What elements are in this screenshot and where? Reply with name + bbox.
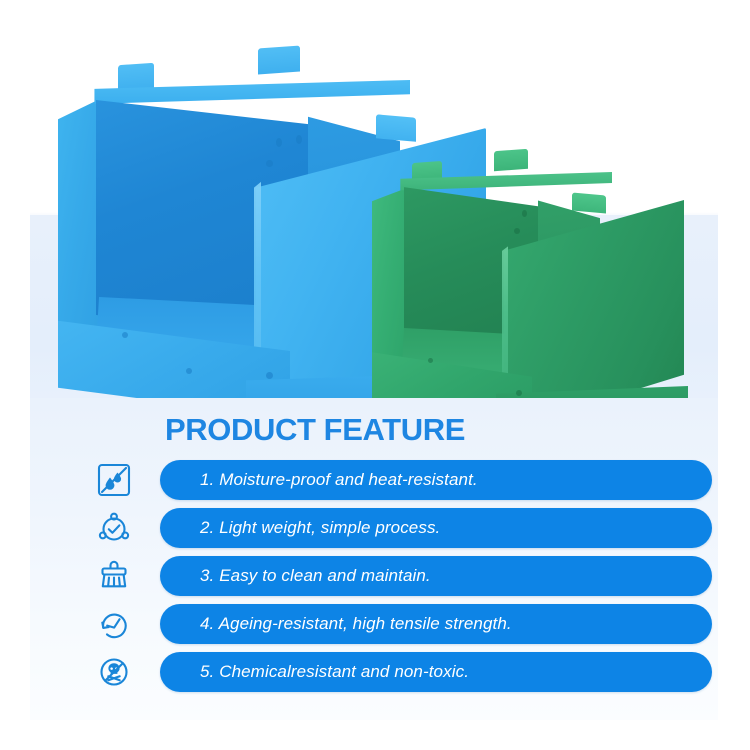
feature-text: 3. Easy to clean and maintain. [200, 566, 431, 586]
ageing-clock-icon [92, 604, 136, 644]
blue-crate-rivet [266, 160, 273, 167]
feature-pill[interactable]: 2. Light weight, simple process. [160, 508, 712, 548]
feature-pill[interactable]: 4. Ageing-resistant, high tensile streng… [160, 604, 712, 644]
feature-text: 5. Chemicalresistant and non-toxic. [200, 662, 469, 682]
blue-crate-rivet [296, 135, 302, 144]
moisture-proof-icon [92, 460, 136, 500]
blue-crate-rivet [122, 332, 128, 338]
cleaning-brush-icon [92, 556, 136, 596]
green-crate-rivet [428, 358, 433, 363]
list-item[interactable]: 5. Chemicalresistant and non-toxic. [92, 652, 712, 692]
blue-crate-rivet [266, 372, 273, 379]
feature-pill[interactable]: 1. Moisture-proof and heat-resistant. [160, 460, 712, 500]
feature-pill[interactable]: 5. Chemicalresistant and non-toxic. [160, 652, 712, 692]
product-photo-scene [0, 0, 750, 430]
blue-crate-tab [118, 63, 154, 92]
feature-list: 1. Moisture-proof and heat-resistant. [92, 460, 712, 700]
feature-text: 2. Light weight, simple process. [200, 518, 440, 538]
list-item[interactable]: 1. Moisture-proof and heat-resistant. [92, 460, 712, 500]
non-toxic-icon [92, 652, 136, 692]
green-crate-rivet [516, 390, 522, 396]
blue-crate-tab [376, 114, 416, 141]
list-item[interactable]: 4. Ageing-resistant, high tensile streng… [92, 604, 712, 644]
product-feature-infographic: PRODUCT FEATURE 1. Moisture-proof and he… [0, 0, 750, 750]
quality-check-icon [92, 508, 136, 548]
feature-text: 4. Ageing-resistant, high tensile streng… [200, 614, 512, 634]
list-item[interactable]: 3. Easy to clean and maintain. [92, 556, 712, 596]
green-crate-tab [494, 149, 528, 171]
feature-panel: PRODUCT FEATURE 1. Moisture-proof and he… [30, 398, 718, 720]
green-collapsible-crate [372, 148, 684, 428]
blue-crate-tab [258, 46, 300, 75]
feature-text: 1. Moisture-proof and heat-resistant. [200, 470, 478, 490]
page-title: PRODUCT FEATURE [165, 412, 465, 448]
green-crate-tab [572, 193, 606, 214]
blue-crate-rivet [276, 138, 282, 147]
feature-pill[interactable]: 3. Easy to clean and maintain. [160, 556, 712, 596]
blue-crate-rivet [186, 368, 192, 374]
list-item[interactable]: 2. Light weight, simple process. [92, 508, 712, 548]
green-crate-rivet [522, 210, 527, 217]
green-crate-rivet [514, 228, 520, 234]
